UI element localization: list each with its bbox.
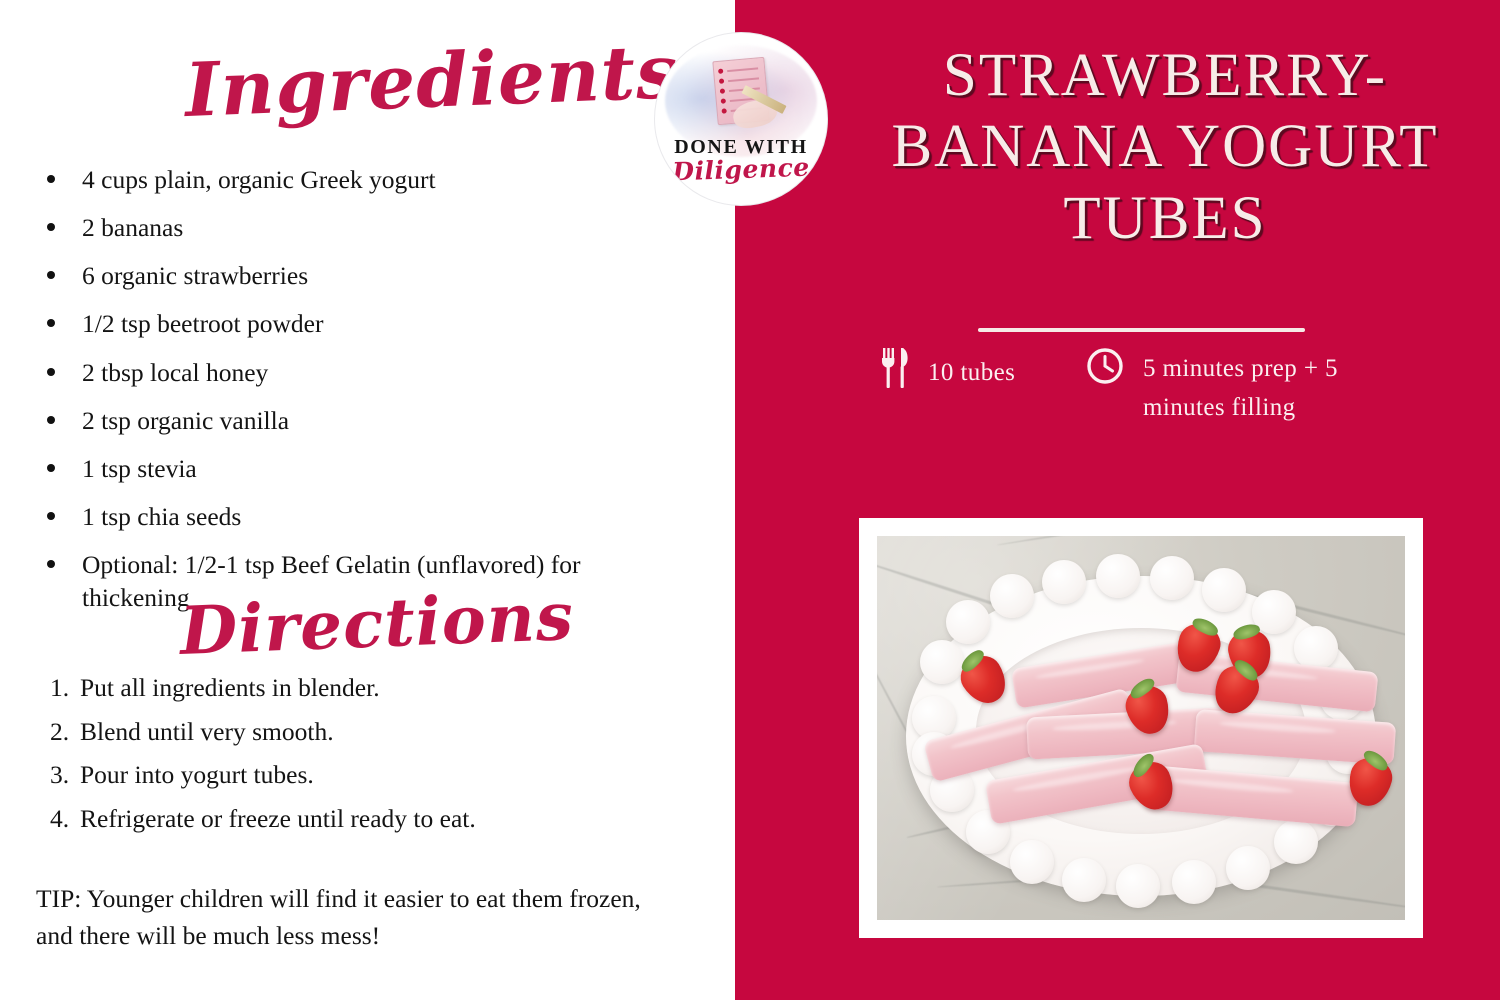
clock-icon bbox=[1085, 346, 1125, 391]
fork-knife-icon bbox=[880, 346, 910, 395]
time-block: 5 minutes prep + 5 minutes filling bbox=[1085, 344, 1425, 428]
step-number: 1. bbox=[50, 672, 69, 705]
ingredient-item: 4 cups plain, organic Greek yogurt bbox=[40, 163, 680, 196]
direction-step: 3.Pour into yogurt tubes. bbox=[40, 759, 680, 792]
yield-block: 10 tubes bbox=[880, 344, 1085, 395]
ingredient-item: 2 tbsp local honey bbox=[40, 356, 680, 389]
direction-step: 4.Refrigerate or freeze until ready to e… bbox=[40, 803, 680, 836]
ingredient-item: 2 tsp organic vanilla bbox=[40, 404, 680, 437]
step-number: 4. bbox=[50, 803, 69, 836]
ingredient-item: 1/2 tsp beetroot powder bbox=[40, 307, 680, 340]
recipe-card: Ingredients 4 cups plain, organic Greek … bbox=[0, 0, 1500, 1000]
step-number: 3. bbox=[50, 759, 69, 792]
yield-text: 10 tubes bbox=[928, 354, 1015, 393]
ingredients-list: 4 cups plain, organic Greek yogurt2 bana… bbox=[40, 163, 680, 629]
logo-name-script: Diligence bbox=[655, 154, 827, 185]
meta-divider bbox=[978, 328, 1305, 332]
step-text: Blend until very smooth. bbox=[80, 717, 334, 746]
recipe-title: STRAWBERRY-BANANA YOGURT TUBES bbox=[855, 40, 1475, 254]
direction-step: 1.Put all ingredients in blender. bbox=[40, 672, 680, 705]
step-text: Refrigerate or freeze until ready to eat… bbox=[80, 804, 476, 833]
tip-text: TIP: Younger children will find it easie… bbox=[36, 880, 656, 955]
direction-step: 2.Blend until very smooth. bbox=[40, 716, 680, 749]
bottom-spacer bbox=[0, 986, 735, 1000]
time-text: 5 minutes prep + 5 minutes filling bbox=[1143, 350, 1393, 428]
recipe-photo bbox=[877, 536, 1405, 920]
ingredients-heading: Ingredients bbox=[183, 29, 680, 134]
step-text: Pour into yogurt tubes. bbox=[80, 760, 314, 789]
ingredient-item: 1 tsp stevia bbox=[40, 452, 680, 485]
directions-heading: Directions bbox=[179, 577, 576, 670]
meta-row: 10 tubes 5 minutes prep + 5 minutes fill… bbox=[880, 344, 1440, 428]
ingredient-item: 6 organic strawberries bbox=[40, 259, 680, 292]
logo-badge: DONE WITH Diligence bbox=[655, 33, 827, 205]
ingredient-item: 2 bananas bbox=[40, 211, 680, 244]
recipe-photo-frame bbox=[859, 518, 1423, 938]
step-number: 2. bbox=[50, 716, 69, 749]
directions-list: 1.Put all ingredients in blender.2.Blend… bbox=[40, 672, 680, 847]
ingredient-item: 1 tsp chia seeds bbox=[40, 500, 680, 533]
step-text: Put all ingredients in blender. bbox=[80, 673, 380, 702]
left-panel: Ingredients 4 cups plain, organic Greek … bbox=[0, 0, 735, 1000]
